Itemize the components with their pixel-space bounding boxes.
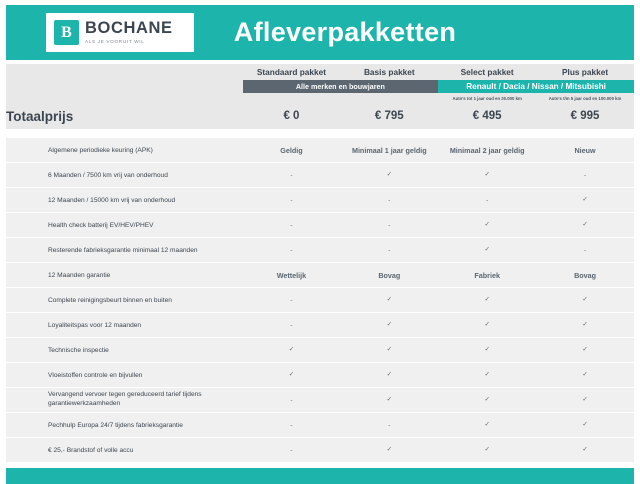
feature-value-cell: ✓ <box>438 338 536 363</box>
table-row: Health check batterij EV/HEV/PHEV--✓✓ <box>6 213 634 238</box>
feature-label: Health check batterij EV/HEV/PHEV <box>6 213 243 238</box>
feature-label: Complete reinigingsbeurt binnen en buite… <box>6 288 243 313</box>
feature-value-cell: ✓ <box>438 163 536 188</box>
page-header: B BOCHANE ALS JE VOORUIT WIL Afleverpakk… <box>6 5 634 60</box>
feature-label: Vloeistoffen controle en bijvullen <box>6 363 243 388</box>
feature-value-cell: Minimaal 1 jaar geldig <box>340 138 438 163</box>
table-row: Loyaliteitspas voor 12 maanden-✓✓✓ <box>6 313 634 338</box>
table-row: Vervangend vervoer tegen gereduceerd tar… <box>6 388 634 413</box>
kmnote-standaard <box>243 93 341 103</box>
totaalprijs-label: Totaalprijs <box>6 103 243 129</box>
feature-value-cell: Geldig <box>243 138 341 163</box>
table-row: 12 Maanden garantieWettelijkBovagFabriek… <box>6 263 634 288</box>
feature-value-cell: Bovag <box>536 263 634 288</box>
spacer-cell <box>6 129 634 138</box>
banner-renault-groep: Renault / Dacia / Nissan / Mitsubishi <box>438 80 634 93</box>
feature-value-cell: - <box>438 188 536 213</box>
package-name-select: Select pakket <box>438 64 536 80</box>
feature-value-cell: ✓ <box>536 313 634 338</box>
feature-value-cell: ✓ <box>438 388 536 413</box>
feature-rows: Algemene periodieke keuring (APK)GeldigM… <box>6 138 634 463</box>
feature-value-cell: ✓ <box>438 313 536 338</box>
package-names-row: Standaard pakket Basis pakket Select pak… <box>6 64 634 80</box>
empty-corner <box>6 64 243 80</box>
feature-value-cell: - <box>243 413 341 438</box>
feature-value-cell: ✓ <box>536 363 634 388</box>
feature-value-cell: Nieuw <box>536 138 634 163</box>
package-name-plus: Plus pakket <box>536 64 634 80</box>
feature-value-cell: ✓ <box>438 363 536 388</box>
feature-label: 12 Maanden / 15000 km vrij van onderhoud <box>6 188 243 213</box>
package-name-standaard: Standaard pakket <box>243 64 341 80</box>
price-select: € 495 <box>438 103 536 129</box>
feature-label: Vervangend vervoer tegen gereduceerd tar… <box>6 388 243 413</box>
feature-value-cell: ✓ <box>340 438 438 463</box>
feature-value-cell: ✓ <box>536 188 634 213</box>
price-plus: € 995 <box>536 103 634 129</box>
kmnote-plus: Auto's t/m 5 jaar oud en 100.000 km <box>536 93 634 103</box>
feature-value-cell: ✓ <box>243 363 341 388</box>
page-title: Afleverpakketten <box>6 17 634 48</box>
feature-value-cell: ✓ <box>438 238 536 263</box>
feature-value-cell: - <box>536 238 634 263</box>
price-basis: € 795 <box>340 103 438 129</box>
feature-value-cell: Bovag <box>340 263 438 288</box>
feature-label: Pechhulp Europa 24/7 tijdens fabrieksgar… <box>6 413 243 438</box>
feature-value-cell: - <box>243 313 341 338</box>
packages-table: Standaard pakket Basis pakket Select pak… <box>6 64 634 463</box>
feature-value-cell: - <box>243 163 341 188</box>
feature-value-cell: ✓ <box>438 438 536 463</box>
table-row: 12 Maanden / 15000 km vrij van onderhoud… <box>6 188 634 213</box>
feature-value-cell: Minimaal 2 jaar geldig <box>438 138 536 163</box>
table-row: Resterende fabrieksgarantie minimaal 12 … <box>6 238 634 263</box>
feature-value-cell: ✓ <box>340 313 438 338</box>
feature-value-cell: ✓ <box>536 388 634 413</box>
feature-value-cell: ✓ <box>536 288 634 313</box>
afleverpakketten-page: B BOCHANE ALS JE VOORUIT WIL Afleverpakk… <box>0 0 640 453</box>
feature-value-cell: ✓ <box>340 163 438 188</box>
feature-label: Resterende fabrieksgarantie minimaal 12 … <box>6 238 243 263</box>
feature-value-cell: - <box>340 413 438 438</box>
table-row: Algemene periodieke keuring (APK)GeldigM… <box>6 138 634 163</box>
package-banners-row: Alle merken en bouwjaren Renault / Dacia… <box>6 80 634 93</box>
table-row: Complete reinigingsbeurt binnen en buite… <box>6 288 634 313</box>
feature-label: Technische inspectie <box>6 338 243 363</box>
table-row: Pechhulp Europa 24/7 tijdens fabrieksgar… <box>6 413 634 438</box>
feature-label: 6 Maanden / 7500 km vrij van onderhoud <box>6 163 243 188</box>
feature-value-cell: - <box>340 188 438 213</box>
table-row: 6 Maanden / 7500 km vrij van onderhoud-✓… <box>6 163 634 188</box>
feature-value-cell: - <box>243 238 341 263</box>
feature-label: Algemene periodieke keuring (APK) <box>6 138 243 163</box>
package-name-basis: Basis pakket <box>340 64 438 80</box>
feature-value-cell: Wettelijk <box>243 263 341 288</box>
table-row: Technische inspectie✓✓✓✓ <box>6 338 634 363</box>
banner-alle-merken: Alle merken en bouwjaren <box>243 80 439 93</box>
empty-corner-2 <box>6 80 243 93</box>
feature-value-cell: - <box>536 163 634 188</box>
feature-value-cell: - <box>243 388 341 413</box>
package-kmnotes-row: Auto's tot 1 jaar oud en 20.000 km Auto'… <box>6 93 634 103</box>
feature-value-cell: ✓ <box>536 213 634 238</box>
spacer-row <box>6 129 634 138</box>
feature-value-cell: Fabriek <box>438 263 536 288</box>
table-row: € 25,- Brandstof of volle accu-✓✓✓ <box>6 438 634 463</box>
empty-corner-3 <box>6 93 243 103</box>
feature-value-cell: - <box>243 188 341 213</box>
feature-value-cell: - <box>243 213 341 238</box>
feature-value-cell: ✓ <box>340 363 438 388</box>
feature-value-cell: ✓ <box>438 288 536 313</box>
feature-value-cell: ✓ <box>536 413 634 438</box>
feature-value-cell: ✓ <box>438 413 536 438</box>
feature-value-cell: - <box>243 288 341 313</box>
feature-value-cell: ✓ <box>243 338 341 363</box>
price-row: Totaalprijs € 0 € 795 € 495 € 995 <box>6 103 634 129</box>
feature-label: € 25,- Brandstof of volle accu <box>6 438 243 463</box>
feature-value-cell: - <box>340 213 438 238</box>
feature-value-cell: ✓ <box>536 438 634 463</box>
feature-value-cell: ✓ <box>340 288 438 313</box>
feature-value-cell: - <box>340 238 438 263</box>
feature-label: Loyaliteitspas voor 12 maanden <box>6 313 243 338</box>
footer-strip <box>6 468 634 484</box>
feature-value-cell: ✓ <box>340 338 438 363</box>
kmnote-basis <box>340 93 438 103</box>
table-row: Vloeistoffen controle en bijvullen✓✓✓✓ <box>6 363 634 388</box>
feature-label: 12 Maanden garantie <box>6 263 243 288</box>
kmnote-select: Auto's tot 1 jaar oud en 20.000 km <box>438 93 536 103</box>
feature-value-cell: ✓ <box>536 338 634 363</box>
price-standaard: € 0 <box>243 103 341 129</box>
feature-value-cell: ✓ <box>340 388 438 413</box>
feature-value-cell: ✓ <box>438 213 536 238</box>
feature-value-cell: - <box>243 438 341 463</box>
